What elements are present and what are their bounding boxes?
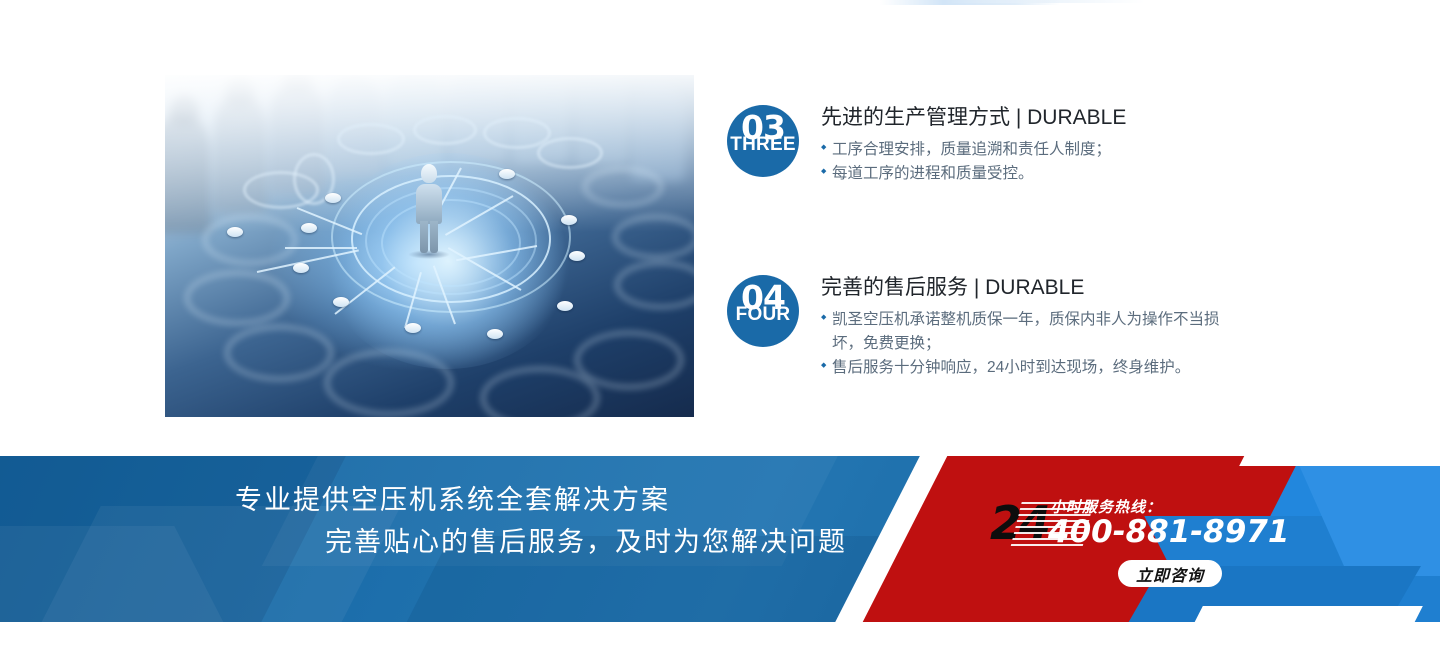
feature-bullet-list-03: 工序合理安排，质量追溯和责任人制度； 每道工序的进程和质量受控。 xyxy=(821,138,1126,186)
network-node xyxy=(333,297,349,307)
feature-heading-en: DURABLE xyxy=(985,276,1084,299)
central-figure-icon xyxy=(416,164,442,252)
feature-heading-sep: | xyxy=(968,276,985,299)
badge-word: THREE xyxy=(727,135,799,154)
feature-heading-cn: 先进的生产管理方式 xyxy=(821,106,1010,129)
banner-corner-mask xyxy=(1239,456,1440,466)
top-partial-strip-2 xyxy=(945,0,1145,3)
hotline-group: 24 小时服务热线： 400-881-8971 立即咨询 xyxy=(990,496,1260,606)
feature-block-03: 03 THREE 先进的生产管理方式 | DURABLE 工序合理安排，质量追溯… xyxy=(727,105,1126,186)
network-node xyxy=(301,223,317,233)
network-node xyxy=(499,169,515,179)
feature-block-04: 04 FOUR 完善的售后服务 | DURABLE 凯圣空压机承诺整机质保一年，… xyxy=(727,275,1233,380)
feature-badge-04: 04 FOUR xyxy=(727,275,799,347)
banner-slogan-line-1: 专业提供空压机系统全套解决方案 xyxy=(160,480,920,522)
feature-bullet: 售后服务十分钟响应，24小时到达现场，终身维护。 xyxy=(821,356,1233,380)
feature-badge-03: 03 THREE xyxy=(727,105,799,177)
feature-bullet: 工序合理安排，质量追溯和责任人制度； xyxy=(821,138,1126,162)
bottom-cta-banner: 专业提供空压机系统全套解决方案 完善贴心的售后服务，及时为您解决问题 24 小时… xyxy=(0,456,1440,622)
feature-heading-04: 完善的售后服务 | DURABLE xyxy=(821,275,1233,301)
banner-corner-mask xyxy=(1167,606,1423,622)
page-root: 03 THREE 先进的生产管理方式 | DURABLE 工序合理安排，质量追溯… xyxy=(0,0,1440,663)
network-node xyxy=(569,251,585,261)
network-node xyxy=(293,263,309,273)
network-node xyxy=(487,329,503,339)
feature-bullet-list-04: 凯圣空压机承诺整机质保一年，质保内非人为操作不当损坏，免费更换； 售后服务十分钟… xyxy=(821,308,1233,380)
banner-slogan-line-2: 完善贴心的售后服务，及时为您解决问题 xyxy=(160,522,920,564)
network-node xyxy=(227,227,243,237)
banner-slogan-group: 专业提供空压机系统全套解决方案 完善贴心的售后服务，及时为您解决问题 xyxy=(160,480,920,564)
hotline-24-number: 24 xyxy=(990,500,1048,546)
feature-bullet: 每道工序的进程和质量受控。 xyxy=(821,162,1126,186)
consult-now-button[interactable]: 立即咨询 xyxy=(1118,560,1222,587)
feature-heading-03: 先进的生产管理方式 | DURABLE xyxy=(821,105,1126,131)
network-node xyxy=(557,301,573,311)
network-node xyxy=(405,323,421,333)
feature-heading-en: DURABLE xyxy=(1027,106,1126,129)
feature-heading-sep: | xyxy=(1010,106,1027,129)
hero-image xyxy=(165,75,694,417)
hotline-phone-number: 400-881-8971 xyxy=(1048,514,1289,550)
network-node xyxy=(561,215,577,225)
network-node xyxy=(325,193,341,203)
badge-word: FOUR xyxy=(727,305,799,324)
feature-bullet: 凯圣空压机承诺整机质保一年，质保内非人为操作不当损坏，免费更换； xyxy=(821,308,1233,356)
feature-heading-cn: 完善的售后服务 xyxy=(821,276,968,299)
